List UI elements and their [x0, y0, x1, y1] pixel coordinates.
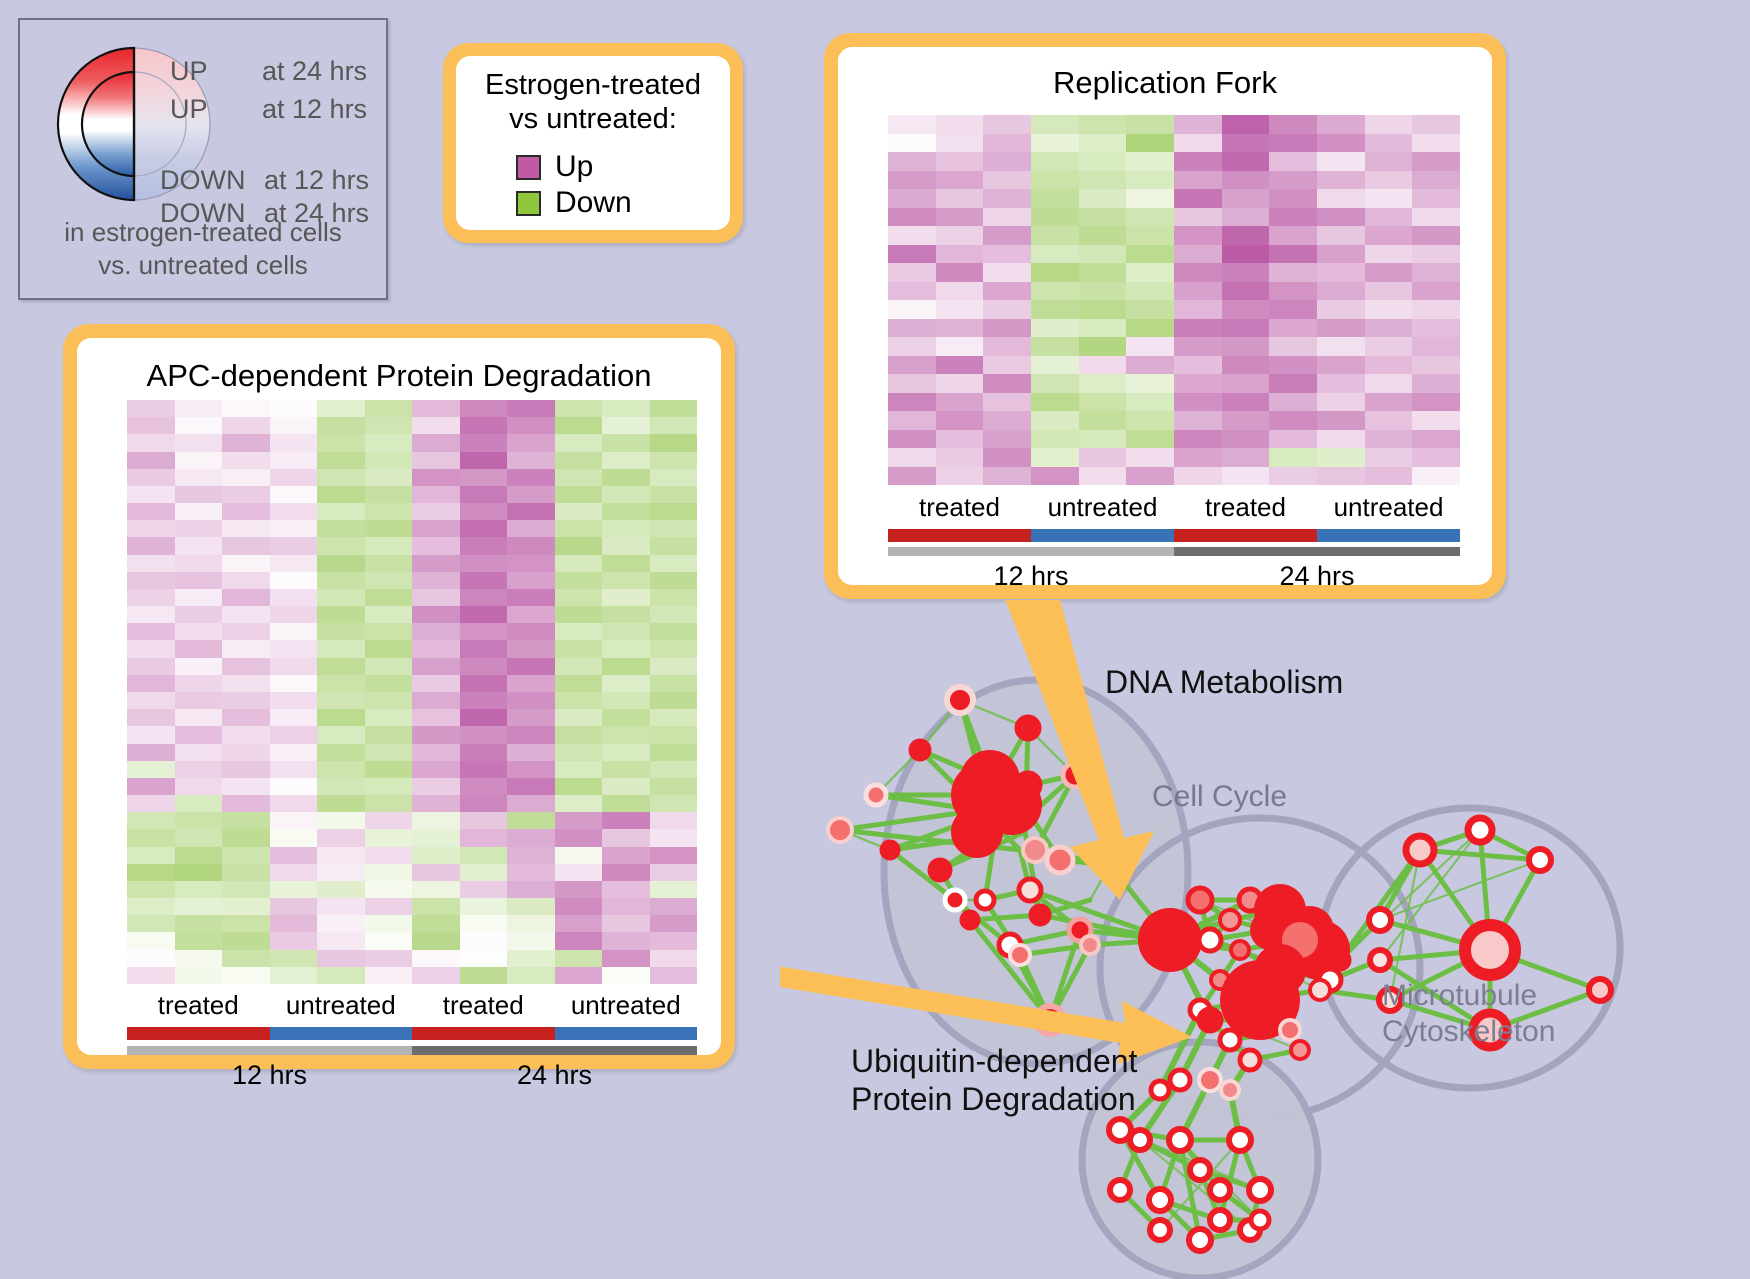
heatmap-cell [365, 692, 413, 709]
rf-group-colorbar [888, 529, 1460, 542]
heatmap-cell [1079, 226, 1127, 245]
heatmap-cell [317, 589, 365, 606]
heatmap-cell [1031, 467, 1079, 486]
rf-time-colorbar [888, 547, 1460, 556]
heatmap-cell [412, 606, 460, 623]
heatmap-cell [175, 658, 223, 675]
heatmap-cell [365, 572, 413, 589]
heatmap-cell [602, 589, 650, 606]
heatmap-cell [602, 726, 650, 743]
heatmap-cell [1412, 319, 1460, 338]
heatmap-cell [983, 430, 1031, 449]
heatmap-cell [650, 915, 698, 932]
heatmap-cell [222, 452, 270, 469]
heatmap-cell [1317, 171, 1365, 190]
heatmap-cell [507, 726, 555, 743]
heatmap-cell [1031, 263, 1079, 282]
heatmap-cell [175, 847, 223, 864]
heatmap-cell [1079, 337, 1127, 356]
heatmap-cell [412, 623, 460, 640]
heatmap-cell [270, 623, 318, 640]
heatmap-cell [602, 452, 650, 469]
heatmap-cell [317, 400, 365, 417]
heatmap-cell [127, 640, 175, 657]
heatmap-cell [983, 448, 1031, 467]
heatmap-cell [983, 467, 1031, 486]
heatmap-cell [1269, 134, 1317, 153]
group-bar-segment [127, 1027, 270, 1040]
heatmap-cell [1031, 356, 1079, 375]
heatmap-cell [460, 503, 508, 520]
heatmap-cell [175, 881, 223, 898]
heatmap-cell [888, 115, 936, 134]
heatmap-cell [507, 520, 555, 537]
heatmap-cell [175, 692, 223, 709]
heatmap-cell [602, 932, 650, 949]
heatmap-cell [1174, 208, 1222, 227]
heatmap-cell [1031, 448, 1079, 467]
heatmap-cell [365, 555, 413, 572]
heatmap-cell [412, 898, 460, 915]
heatmap-cell [650, 932, 698, 949]
heatmap-cell [317, 744, 365, 761]
heatmap-cell [175, 795, 223, 812]
heatmap-cell [507, 623, 555, 640]
heatmap-cell [317, 640, 365, 657]
panel-replication-fork-inner: Replication Fork treated untreated treat… [838, 47, 1492, 585]
heatmap-cell [1174, 448, 1222, 467]
heatmap-cell [1317, 115, 1365, 134]
heatmap-cell [1174, 319, 1222, 338]
legend-time-down-12: at 12 hrs [264, 165, 369, 196]
heatmap-cell [460, 761, 508, 778]
heatmap-cell [650, 400, 698, 417]
heatmap-apc [127, 400, 697, 984]
heatmap-cell [1174, 467, 1222, 486]
heatmap-cell [412, 469, 460, 486]
heatmap-cell [1079, 467, 1127, 486]
heatmap-cell [1031, 300, 1079, 319]
heatmap-cell [317, 537, 365, 554]
heatmap-cell [602, 537, 650, 554]
heatmap-cell [1269, 282, 1317, 301]
heatmap-cell [412, 434, 460, 451]
heatmap-cell [460, 572, 508, 589]
heatmap-cell [127, 967, 175, 984]
heatmap-cell [602, 658, 650, 675]
heatmap-cell [412, 675, 460, 692]
heatmap-cell [602, 950, 650, 967]
heatmap-cell [983, 189, 1031, 208]
heatmap-cell [1222, 467, 1270, 486]
heatmap-cell [650, 967, 698, 984]
heatmap-cell [317, 726, 365, 743]
heatmap-cell [936, 393, 984, 412]
heatmap-cell [175, 452, 223, 469]
heatmap-cell [460, 898, 508, 915]
heatmap-cell [270, 709, 318, 726]
heatmap-cell [1126, 282, 1174, 301]
heatmap-cell [507, 881, 555, 898]
heatmap-cell [460, 778, 508, 795]
legend-row-up-12: UP at 12 hrs [170, 94, 367, 125]
heatmap-cell [936, 411, 984, 430]
heatmap-cell [650, 606, 698, 623]
heatmap-cell [983, 171, 1031, 190]
heatmap-cell [1126, 374, 1174, 393]
legend-updown-inner: Estrogen-treated vs untreated: Up Down [456, 56, 730, 230]
heatmap-cell [507, 503, 555, 520]
heatmap-cell [175, 932, 223, 949]
legend-direction-up-12: UP [170, 94, 262, 125]
heatmap-cell [127, 864, 175, 881]
heatmap-cell [1412, 282, 1460, 301]
heatmap-cell [175, 778, 223, 795]
heatmap-cell [222, 744, 270, 761]
heatmap-cell [365, 486, 413, 503]
heatmap-cell [555, 555, 603, 572]
heatmap-cell [1031, 226, 1079, 245]
heatmap-cell [365, 640, 413, 657]
heatmap-cell [127, 606, 175, 623]
heatmap-cell [650, 881, 698, 898]
heatmap-cell [412, 452, 460, 469]
heatmap-cell [555, 847, 603, 864]
heatmap-cell [555, 640, 603, 657]
heatmap-cell [602, 709, 650, 726]
rf-column-labels: treated untreated treated untreated [888, 492, 1460, 523]
heatmap-cell [983, 411, 1031, 430]
heatmap-cell [555, 675, 603, 692]
heatmap-cell [555, 417, 603, 434]
heatmap-cell [1174, 134, 1222, 153]
heatmap-cell [222, 520, 270, 537]
heatmap-cell [460, 726, 508, 743]
apc-time-label-12: 12 hrs [127, 1060, 412, 1091]
heatmap-cell [127, 434, 175, 451]
heatmap-cell [317, 692, 365, 709]
heatmap-cell [650, 640, 698, 657]
heatmap-cell [602, 795, 650, 812]
heatmap-cell [365, 503, 413, 520]
heatmap-cell [602, 915, 650, 932]
heatmap-cell [270, 520, 318, 537]
heatmap-cell [650, 864, 698, 881]
heatmap-cell [936, 134, 984, 153]
heatmap-cell [365, 520, 413, 537]
heatmap-cell [317, 932, 365, 949]
heatmap-cell [936, 300, 984, 319]
heatmap-cell [365, 795, 413, 812]
heatmap-cell [1031, 134, 1079, 153]
heatmap-cell [555, 589, 603, 606]
heatmap-cell [127, 744, 175, 761]
group-bar-segment [1031, 529, 1174, 542]
heatmap-cell [1079, 245, 1127, 264]
heatmap-cell [936, 171, 984, 190]
heatmap-cell [888, 448, 936, 467]
heatmap-cell [983, 319, 1031, 338]
heatmap-cell [936, 245, 984, 264]
heatmap-cell [602, 434, 650, 451]
heatmap-cell [507, 658, 555, 675]
heatmap-cell [222, 503, 270, 520]
heatmap-cell [1317, 189, 1365, 208]
heatmap-cell [1031, 337, 1079, 356]
heatmap-cell [175, 434, 223, 451]
time-bar-segment [127, 1046, 412, 1055]
heatmap-cell [936, 208, 984, 227]
heatmap-cell [1126, 393, 1174, 412]
heatmap-cell [365, 829, 413, 846]
heatmap-cell [222, 915, 270, 932]
heatmap-cell [127, 452, 175, 469]
heatmap-cell [1317, 152, 1365, 171]
heatmap-cell [1079, 189, 1127, 208]
heatmap-cell [222, 829, 270, 846]
legend-label-down: Down [555, 188, 632, 218]
rf-col-label-1: untreated [1031, 492, 1174, 523]
heatmap-cell [127, 795, 175, 812]
heatmap-cell [1269, 226, 1317, 245]
heatmap-cell [1031, 208, 1079, 227]
network-diagram [780, 600, 1750, 1279]
heatmap-cell [507, 589, 555, 606]
heatmap-cell [1365, 319, 1413, 338]
heatmap-cell [555, 967, 603, 984]
heatmap-cell [602, 606, 650, 623]
heatmap-cell [650, 417, 698, 434]
heatmap-cell [412, 915, 460, 932]
heatmap-cell [1365, 245, 1413, 264]
heatmap-cell [1269, 152, 1317, 171]
heatmap-cell [507, 434, 555, 451]
heatmap-cell [1174, 115, 1222, 134]
heatmap-cell [1269, 467, 1317, 486]
legend-row-up-24: UP at 24 hrs [170, 56, 367, 87]
heatmap-cell [127, 778, 175, 795]
heatmap-cell [555, 606, 603, 623]
heatmap-cell [317, 950, 365, 967]
heatmap-cell [1269, 430, 1317, 449]
heatmap-cell [1031, 189, 1079, 208]
heatmap-cell [507, 692, 555, 709]
heatmap-cell [1079, 115, 1127, 134]
heatmap-cell [222, 692, 270, 709]
heatmap-cell [365, 847, 413, 864]
heatmap-cell [936, 152, 984, 171]
heatmap-cell [650, 778, 698, 795]
heatmap-cell [365, 881, 413, 898]
heatmap-cell [412, 417, 460, 434]
heatmap-cell [555, 881, 603, 898]
heatmap-cell [460, 589, 508, 606]
heatmap-cell [1222, 319, 1270, 338]
heatmap-cell [412, 486, 460, 503]
heatmap-cell [1365, 467, 1413, 486]
heatmap-cell [650, 589, 698, 606]
heatmap-cell [365, 726, 413, 743]
apc-column-labels: treated untreated treated untreated [127, 990, 697, 1021]
heatmap-cell [127, 898, 175, 915]
heatmap-cell [127, 675, 175, 692]
heatmap-cell [222, 640, 270, 657]
heatmap-cell [507, 864, 555, 881]
heatmap-cell [1126, 245, 1174, 264]
heatmap-cell [1412, 300, 1460, 319]
heatmap-cell [1031, 393, 1079, 412]
heatmap-cell [317, 520, 365, 537]
heatmap-cell [555, 898, 603, 915]
heatmap-cell [365, 915, 413, 932]
heatmap-cell [1222, 448, 1270, 467]
heatmap-cell [1269, 337, 1317, 356]
heatmap-cell [175, 469, 223, 486]
heatmap-cell [365, 864, 413, 881]
heatmap-cell [412, 658, 460, 675]
heatmap-cell [602, 520, 650, 537]
heatmap-cell [365, 744, 413, 761]
heatmap-cell [1079, 374, 1127, 393]
heatmap-cell [888, 263, 936, 282]
heatmap-cell [270, 898, 318, 915]
heatmap-cell [127, 726, 175, 743]
heatmap-cell [555, 400, 603, 417]
heatmap-cell [127, 572, 175, 589]
heatmap-cell [460, 469, 508, 486]
heatmap-cell [1365, 115, 1413, 134]
heatmap-cell [127, 761, 175, 778]
heatmap-cell [222, 847, 270, 864]
heatmap-cell [650, 623, 698, 640]
heatmap-cell [602, 692, 650, 709]
heatmap-cell [270, 640, 318, 657]
heatmap-cell [317, 778, 365, 795]
heatmap-cell [365, 537, 413, 554]
heatmap-cell [1031, 245, 1079, 264]
heatmap-cell [317, 675, 365, 692]
heatmap-cell [317, 452, 365, 469]
heatmap-cell [412, 950, 460, 967]
heatmap-cell [507, 572, 555, 589]
heatmap-cell [507, 469, 555, 486]
heatmap-cell [1222, 337, 1270, 356]
heatmap-cell [412, 847, 460, 864]
heatmap-cell [555, 503, 603, 520]
heatmap-cell [270, 829, 318, 846]
heatmap-cell [1126, 152, 1174, 171]
heatmap-cell [983, 152, 1031, 171]
heatmap-cell [222, 864, 270, 881]
heatmap-cell [936, 282, 984, 301]
heatmap-cell [270, 417, 318, 434]
heatmap-cell [270, 967, 318, 984]
heatmap-cell [222, 950, 270, 967]
heatmap-cell [650, 898, 698, 915]
heatmap-cell [222, 898, 270, 915]
heatmap-cell [175, 400, 223, 417]
heatmap-cell [602, 847, 650, 864]
heatmap-cell [175, 417, 223, 434]
heatmap-cell [175, 726, 223, 743]
heatmap-cell [602, 469, 650, 486]
heatmap-cell [983, 393, 1031, 412]
heatmap-cell [460, 864, 508, 881]
legend-time-up-24: at 24 hrs [262, 56, 367, 87]
heatmap-cell [1365, 430, 1413, 449]
heatmap-cell [507, 795, 555, 812]
heatmap-cell [460, 486, 508, 503]
heatmap-cell [1222, 171, 1270, 190]
heatmap-cell [507, 812, 555, 829]
heatmap-cell [365, 606, 413, 623]
heatmap-cell [1222, 430, 1270, 449]
heatmap-cell [936, 319, 984, 338]
heatmap-cell [460, 555, 508, 572]
heatmap-cell [317, 469, 365, 486]
heatmap-cell [650, 675, 698, 692]
heatmap-cell [507, 486, 555, 503]
heatmap-cell [365, 469, 413, 486]
heatmap-cell [270, 658, 318, 675]
heatmap-cell [602, 623, 650, 640]
apc-group-colorbar [127, 1027, 697, 1040]
heatmap-cell [1269, 115, 1317, 134]
heatmap-cell [365, 932, 413, 949]
rf-col-label-2: treated [1174, 492, 1317, 523]
heatmap-cell [602, 898, 650, 915]
heatmap-cell [983, 300, 1031, 319]
heatmap-cell [365, 812, 413, 829]
heatmap-cell [650, 452, 698, 469]
heatmap-cell [317, 967, 365, 984]
group-bar-segment [412, 1027, 555, 1040]
heatmap-cell [175, 898, 223, 915]
heatmap-cell [1079, 134, 1127, 153]
heatmap-cell [365, 589, 413, 606]
heatmap-cell [1317, 319, 1365, 338]
heatmap-cell [175, 640, 223, 657]
heatmap-cell [555, 812, 603, 829]
heatmap-cell [1317, 226, 1365, 245]
heatmap-cell [1269, 189, 1317, 208]
heatmap-cell [460, 537, 508, 554]
heatmap-cell [650, 847, 698, 864]
heatmap-cell [936, 374, 984, 393]
heatmap-cell [507, 400, 555, 417]
heatmap-cell [602, 829, 650, 846]
heatmap-cell [1079, 448, 1127, 467]
heatmap-cell [222, 606, 270, 623]
time-bar-segment [1174, 547, 1460, 556]
heatmap-cell [127, 520, 175, 537]
heatmap-cell [127, 950, 175, 967]
heatmap-cell [936, 226, 984, 245]
heatmap-cell [1269, 171, 1317, 190]
heatmap-cell [270, 915, 318, 932]
heatmap-cell [365, 675, 413, 692]
heatmap-cell [555, 623, 603, 640]
heatmap-cell [650, 572, 698, 589]
heatmap-cell [270, 812, 318, 829]
heatmap-cell [1079, 393, 1127, 412]
heatmap-cell [555, 950, 603, 967]
heatmap-cell [222, 795, 270, 812]
heatmap-cell [1079, 430, 1127, 449]
heatmap-cell [983, 208, 1031, 227]
heatmap-cell [650, 812, 698, 829]
heatmap-cell [1222, 282, 1270, 301]
